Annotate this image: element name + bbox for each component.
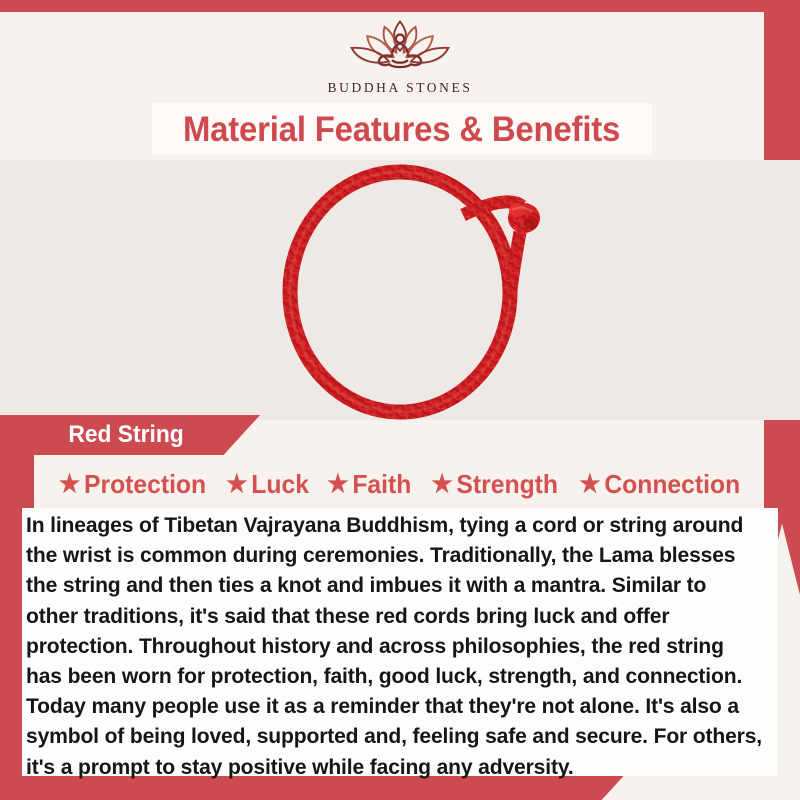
star-icon: ★ — [431, 472, 452, 497]
feature-item: ★ Luck — [226, 469, 309, 500]
description-text: In lineages of Tibetan Vajrayana Buddhis… — [26, 510, 763, 782]
star-icon: ★ — [328, 472, 349, 497]
star-icon: ★ — [59, 472, 80, 497]
frame-top-bar — [0, 0, 800, 12]
feature-label: Connection — [605, 469, 741, 500]
feature-item: ★ Connection — [580, 469, 741, 500]
section-ribbon: Red String — [0, 415, 260, 455]
product-image — [0, 160, 800, 420]
feature-item: ★ Faith — [328, 469, 412, 500]
brand-name: BUDDHA STONES — [328, 80, 473, 96]
star-icon: ★ — [226, 472, 247, 497]
page-title: Material Features & Benefits — [183, 112, 620, 147]
title-banner: Material Features & Benefits — [152, 103, 652, 155]
lotus-meditation-icon — [326, 16, 474, 78]
feature-label: Luck — [252, 469, 310, 500]
feature-label: Strength — [456, 469, 558, 500]
section-ribbon-label: Red String — [0, 421, 184, 449]
feature-list: ★ Protection ★ Luck ★ Faith ★ Strength ★… — [0, 462, 800, 506]
star-icon: ★ — [580, 472, 601, 497]
feature-label: Protection — [84, 469, 206, 500]
feature-item: ★ Protection — [59, 469, 206, 500]
infographic-canvas: BUDDHA STONES Material Features & Benefi… — [0, 0, 800, 800]
feature-label: Faith — [353, 469, 412, 500]
feature-item: ★ Strength — [431, 469, 558, 500]
brand-header: BUDDHA STONES — [0, 12, 800, 102]
description-panel: In lineages of Tibetan Vajrayana Buddhis… — [22, 508, 778, 776]
